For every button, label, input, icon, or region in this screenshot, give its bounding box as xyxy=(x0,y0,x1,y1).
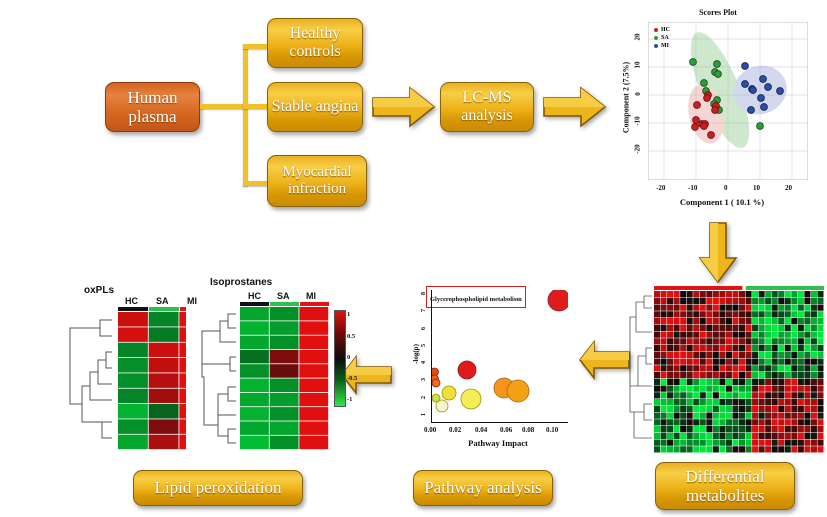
color-scale-tick-0: 0 xyxy=(347,354,350,361)
scores-xtick-10: 10 xyxy=(753,184,760,192)
scores-ytick-0: 0 xyxy=(634,92,642,96)
oxpls-dendrogram-canvas xyxy=(62,312,118,450)
arrow-left-to-pathway xyxy=(578,340,630,380)
color-scale-tick-neg05: -0.5 xyxy=(347,375,357,382)
flow-box-human-plasma[interactable]: Human plasma xyxy=(105,82,200,132)
pathway-ytick-1: 1 xyxy=(420,413,427,416)
pathway-xtick-008: 0.08 xyxy=(522,426,534,434)
flow-box-myocardial-infraction-label: Myocardial infraction xyxy=(268,164,366,198)
pathway-ytick-3: 3 xyxy=(420,378,427,381)
flow-box-differential-metabolites-label: Differential metabolites xyxy=(656,467,794,505)
flow-box-lipid-peroxidation[interactable]: Lipid peroxidation xyxy=(133,470,303,506)
scores-plot-canvas xyxy=(648,22,808,180)
isoprostanes-title: Isoprostanes xyxy=(210,277,272,288)
isoprostanes-col-bar-hc xyxy=(240,302,269,306)
scores-plot-xlabel: Component 1 ( 10.1 %) xyxy=(632,197,812,207)
pathway-ytick-6: 6 xyxy=(420,327,427,330)
flow-box-stable-angina-label: Stable angina xyxy=(272,98,359,116)
color-scale-tick-1: 1 xyxy=(347,311,350,318)
isoprostanes-dendrogram-canvas xyxy=(186,307,240,450)
isoprostanes-col-hc: HC xyxy=(248,291,261,301)
flow-box-healthy-controls[interactable]: Healthy controls xyxy=(267,18,363,68)
pathway-annotation-label: Glycerophospholipid metabolism xyxy=(430,296,522,303)
pathway-xtick-000: 0.00 xyxy=(424,426,436,434)
flow-box-stable-angina[interactable]: Stable angina xyxy=(267,82,363,132)
scores-xtick-0: 0 xyxy=(724,184,728,192)
arrow-right-to-lcms xyxy=(372,86,436,128)
oxpls-title: oxPLs xyxy=(84,285,114,296)
legend-label-sa: SA xyxy=(661,35,669,41)
scores-xtick-neg10: -10 xyxy=(688,184,697,192)
isoprostanes-heatmap-canvas xyxy=(240,307,329,450)
arrow-right-to-scores-plot xyxy=(543,86,607,128)
pathway-ytick-5: 5 xyxy=(420,344,427,347)
flow-box-human-plasma-label: Human plasma xyxy=(106,88,199,126)
oxpls-col-sa: SA xyxy=(156,296,169,306)
scores-plot-title: Scores Plot xyxy=(612,8,824,17)
scores-legend-item-sa: SA xyxy=(654,34,670,42)
pathway-xtick-010: 0.10 xyxy=(546,426,558,434)
scores-ytick-10: 10 xyxy=(634,62,642,69)
pathway-xtick-006: 0.06 xyxy=(500,426,512,434)
scores-ytick-neg20: -20 xyxy=(634,144,642,153)
legend-label-hc: HC xyxy=(661,27,670,33)
oxpls-dendrogram xyxy=(62,312,118,450)
arrow-down-to-heatmap xyxy=(697,222,739,284)
legend-label-mi: MI xyxy=(661,43,669,49)
scores-ytick-20: 20 xyxy=(634,34,642,41)
differential-metabolites-heatmap xyxy=(628,286,824,456)
scores-ytick-neg10: -10 xyxy=(634,116,642,125)
pathway-plot-xlabel: Pathway Impact xyxy=(428,438,568,448)
isoprostanes-col-bar-sa xyxy=(270,302,299,306)
flow-box-myocardial-infraction[interactable]: Myocardial infraction xyxy=(267,155,367,207)
pathway-xtick-002: 0.02 xyxy=(449,426,461,434)
pathway-plot-canvas xyxy=(432,290,568,422)
heatmap-color-scale xyxy=(334,310,344,405)
scores-legend-item-hc: HC xyxy=(654,26,670,34)
isoprostanes-col-mi: MI xyxy=(306,291,316,301)
flow-box-differential-metabolites[interactable]: Differential metabolites xyxy=(655,462,795,510)
big-heatmap-canvas xyxy=(628,286,824,456)
scores-xtick-20: 20 xyxy=(785,184,792,192)
flow-box-lipid-peroxidation-label: Lipid peroxidation xyxy=(154,478,281,497)
flow-box-lcms-analysis[interactable]: LC-MS analysis xyxy=(440,82,534,132)
isoprostanes-col-sa: SA xyxy=(277,291,290,301)
flow-box-lcms-analysis-label: LC-MS analysis xyxy=(441,89,533,125)
color-scale-tick-neg1: -1 xyxy=(347,396,352,403)
scores-plot: Scores Plot xyxy=(612,8,824,218)
pathway-analysis-plot: Glycerophospholipid metabolism 8 7 6 5 4… xyxy=(398,284,578,454)
pathway-y-axis xyxy=(431,290,432,422)
isoprostanes-heatmap xyxy=(240,307,329,450)
connector-spine xyxy=(243,44,248,186)
color-scale-gradient xyxy=(334,310,346,407)
legend-swatch-sa-icon xyxy=(654,36,658,40)
flow-box-pathway-analysis[interactable]: Pathway analysis xyxy=(413,470,553,506)
oxpls-col-hc: HC xyxy=(125,296,138,306)
pathway-ytick-8: 8 xyxy=(420,292,427,295)
scores-xtick-neg20: -20 xyxy=(656,184,665,192)
pathway-ytick-2: 2 xyxy=(420,396,427,399)
oxpls-col-bar-sa xyxy=(149,307,179,311)
scores-legend-item-mi: MI xyxy=(654,42,670,50)
legend-swatch-mi-icon xyxy=(654,44,658,48)
isoprostanes-col-bar-mi xyxy=(300,302,329,306)
oxpls-col-bar-hc xyxy=(118,307,148,311)
pathway-ytick-7: 7 xyxy=(420,309,427,312)
scores-plot-ylabel: Component 2 (7.5%) xyxy=(622,58,631,138)
color-scale-tick-05: 0.5 xyxy=(347,333,355,340)
oxpls-col-mi: MI xyxy=(187,296,197,306)
pathway-xtick-004: 0.04 xyxy=(475,426,487,434)
isoprostanes-dendrogram xyxy=(186,307,240,450)
pathway-annotation-box: Glycerophospholipid metabolism xyxy=(426,286,526,308)
pathway-ytick-4: 4 xyxy=(420,361,427,364)
flow-box-pathway-analysis-label: Pathway analysis xyxy=(424,478,542,497)
legend-swatch-hc-icon xyxy=(654,28,658,32)
connector-plasma-stem xyxy=(200,104,245,109)
pathway-x-axis xyxy=(431,422,568,423)
flow-box-healthy-controls-label: Healthy controls xyxy=(268,25,362,61)
pathway-plot-ylabel: -log(p) xyxy=(412,329,420,379)
